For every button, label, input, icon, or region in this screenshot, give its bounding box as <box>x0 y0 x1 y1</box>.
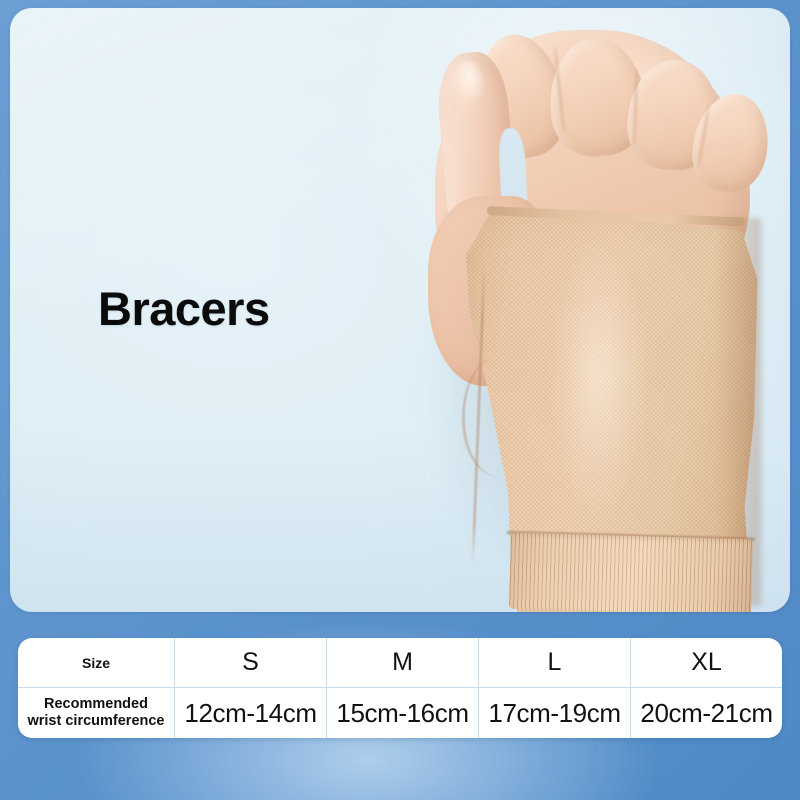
sleeve-shadow-rim <box>715 218 761 606</box>
row-label-line-2: wrist circumference <box>27 713 164 730</box>
thumb-index-gap <box>498 127 533 298</box>
value-cell-s: 12cm-14cm <box>175 688 327 738</box>
table-row: Recommended wrist circumference 12cm-14c… <box>18 688 782 738</box>
sleeve-highlight <box>539 214 659 604</box>
finger-middle <box>546 35 650 159</box>
header-cell-s: S <box>175 638 327 687</box>
header-cell-size: Size <box>18 638 175 687</box>
sleeve-thumb-seam-curve <box>453 351 546 481</box>
product-image-canvas: Bracers Size S M L XL Recommended wrist … <box>0 0 800 800</box>
thumbnail-highlight <box>451 57 490 105</box>
hero-photo-panel: Bracers <box>10 8 790 612</box>
finger-crease-2 <box>633 68 639 150</box>
cuff-rib-texture <box>509 533 753 612</box>
finger-index <box>468 27 574 164</box>
hand-knuckles <box>435 30 750 330</box>
header-cell-xl: XL <box>631 638 782 687</box>
page-title: Bracers <box>98 285 270 332</box>
header-cell-l: L <box>479 638 631 687</box>
palm-edge <box>428 196 548 386</box>
finger-crease-3 <box>696 104 710 170</box>
row-label-line-1: Recommended <box>27 696 164 713</box>
thumb <box>434 49 524 292</box>
header-cell-m: M <box>327 638 479 687</box>
cuff-top-seam <box>507 531 755 542</box>
sleeve-body <box>447 206 767 612</box>
ribbed-cuff <box>509 533 753 612</box>
knit-mesh-texture <box>447 206 767 612</box>
value-cell-m: 15cm-16cm <box>327 688 479 738</box>
value-cell-l: 17cm-19cm <box>479 688 631 738</box>
table-header-row: Size S M L XL <box>18 638 782 688</box>
row-label-wrist-circumference: Recommended wrist circumference <box>18 688 175 738</box>
hand-drop-shadow <box>415 98 765 608</box>
finger-crease-1 <box>553 46 565 134</box>
size-chart-table: Size S M L XL Recommended wrist circumfe… <box>18 638 782 738</box>
value-cell-xl: 20cm-21cm <box>631 688 782 738</box>
finger-little <box>686 88 776 197</box>
wrist-brace-sleeve <box>447 206 767 612</box>
sleeve-top-edge <box>487 206 745 227</box>
finger-ring <box>624 57 723 173</box>
sleeve-seam <box>471 266 486 566</box>
